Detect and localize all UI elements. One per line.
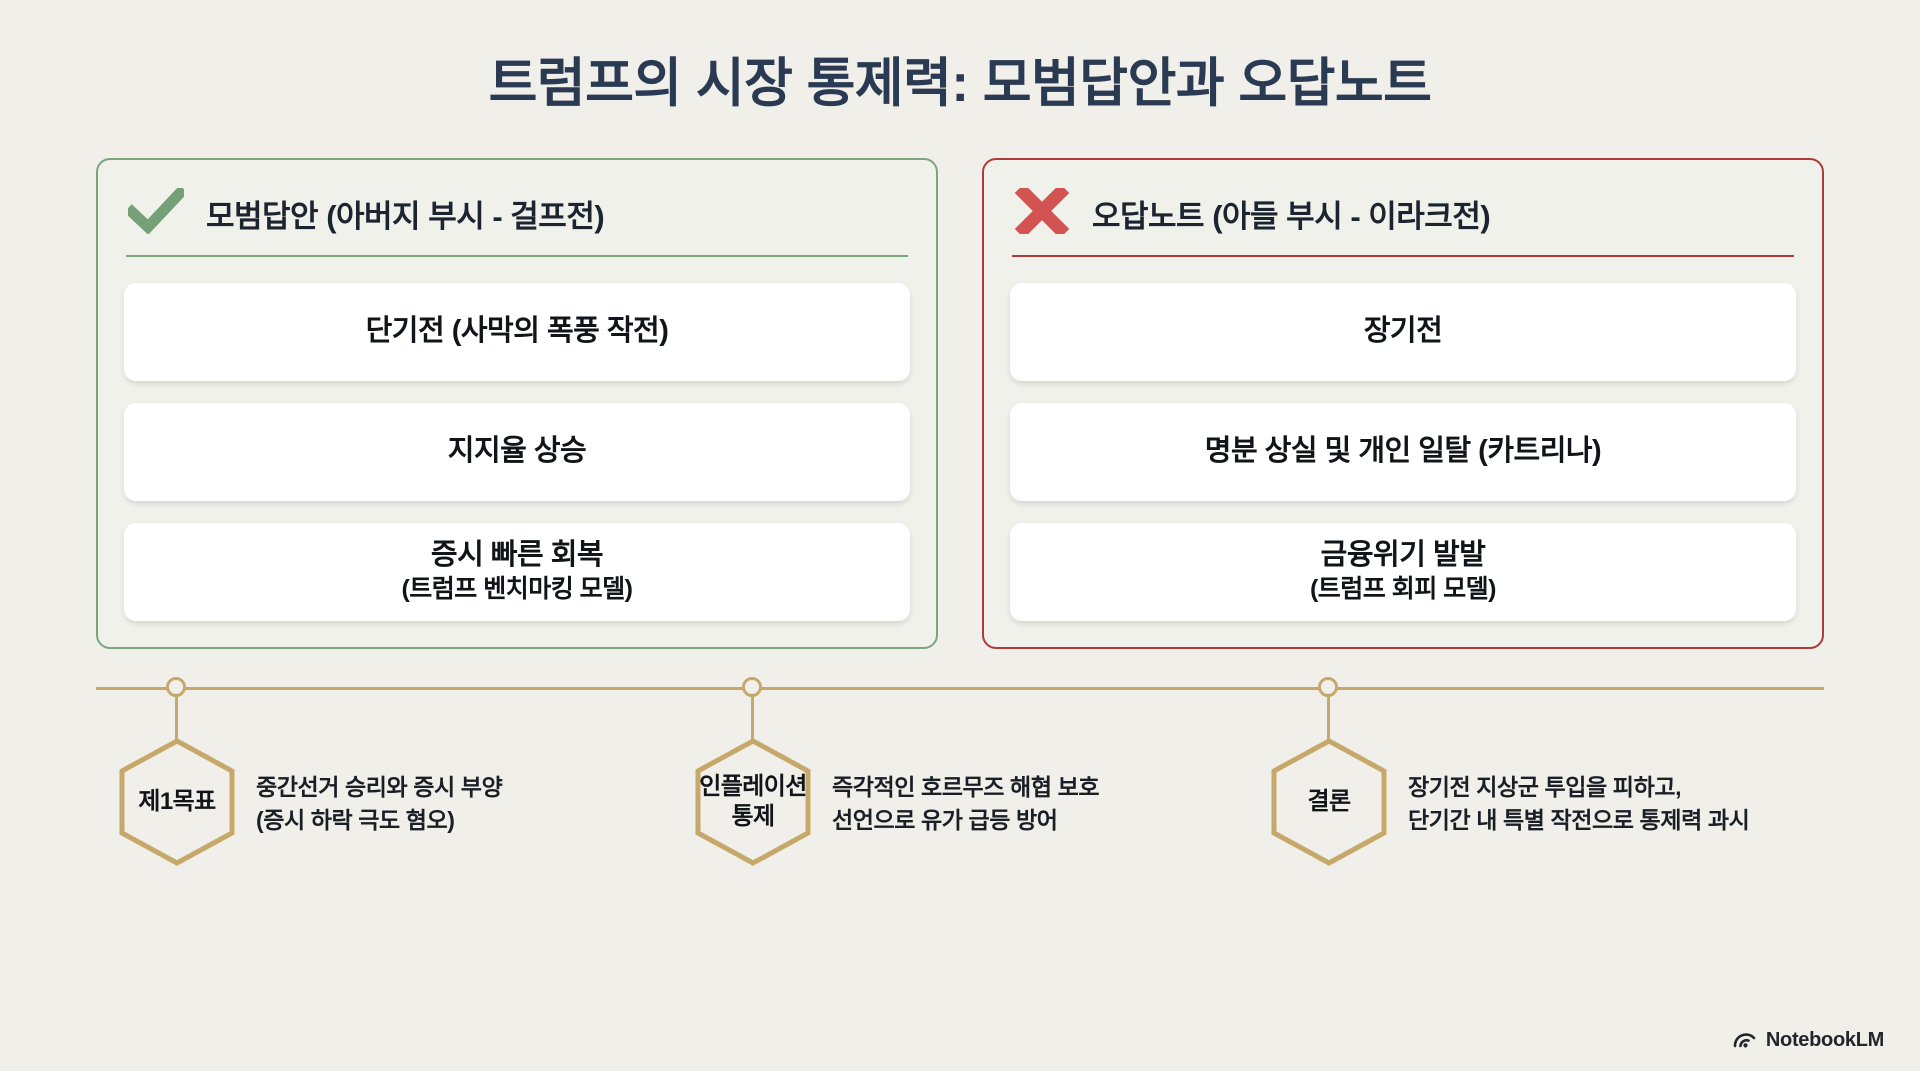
timeline-text-line2: 선언으로 유가 급등 방어	[832, 804, 1099, 837]
card-item: 단기전 (사막의 폭풍 작전)	[124, 283, 910, 381]
hexagon-label-line2: 통제	[699, 802, 806, 831]
card-item: 명분 상실 및 개인 일탈 (카트리나)	[1010, 403, 1796, 501]
card-line-primary: 명분 상실 및 개인 일탈 (카트리나)	[1205, 433, 1601, 469]
timeline-text-line2: (증시 하락 극도 혐오)	[256, 804, 502, 837]
timeline: 제1목표 중간선거 승리와 증시 부양 (증시 하락 극도 혐오) 인플레이션 …	[96, 687, 1824, 897]
timeline-text-line1: 즉각적인 호르무즈 해협 보호	[832, 771, 1099, 804]
cross-icon	[1014, 188, 1070, 239]
card-item: 장기전	[1010, 283, 1796, 381]
card-line-primary: 장기전	[1364, 313, 1443, 349]
hexagon-badge: 제1목표	[118, 737, 236, 867]
card-line-secondary: (트럼프 벤치마킹 모델)	[401, 573, 632, 606]
hexagon-label-line1: 결론	[1308, 787, 1351, 816]
page-title: 트럼프의 시장 통제력: 모범답안과 오답노트	[0, 0, 1920, 116]
hexagon-badge: 결론	[1270, 737, 1388, 867]
timeline-stem	[175, 697, 178, 739]
timeline-text: 중간선거 승리와 증시 부양 (증시 하락 극도 혐오)	[256, 771, 502, 838]
timeline-text-line2: 단기간 내 특별 작전으로 통제력 과시	[1408, 804, 1749, 837]
timeline-item: 인플레이션 통제 즉각적인 호르무즈 해협 보호 선언으로 유가 급등 방어	[672, 687, 1248, 867]
hexagon-label-line1: 인플레이션	[699, 772, 806, 801]
timeline-items: 제1목표 중간선거 승리와 증시 부양 (증시 하락 극도 혐오) 인플레이션 …	[96, 687, 1824, 867]
timeline-text: 즉각적인 호르무즈 해협 보호 선언으로 유가 급등 방어	[832, 771, 1099, 838]
hexagon-badge: 인플레이션 통제	[694, 737, 812, 867]
card-item: 증시 빠른 회복 (트럼프 벤치마킹 모델)	[124, 523, 910, 621]
card-line-primary: 지지율 상승	[448, 433, 586, 469]
notebooklm-logo-icon	[1733, 1028, 1757, 1053]
timeline-text-line1: 중간선거 승리와 증시 부양	[256, 771, 502, 804]
panel-good-title: 모범답안 (아버지 부시 - 걸프전)	[206, 191, 604, 236]
card-line-primary: 금융위기 발발	[1321, 537, 1486, 573]
footer-brand: NotebookLM	[1733, 1028, 1884, 1053]
timeline-stem	[751, 697, 754, 739]
hexagon-label: 결론	[1308, 787, 1351, 816]
panel-good-header: 모범답안 (아버지 부시 - 걸프전)	[124, 182, 910, 255]
card-line-primary: 증시 빠른 회복	[431, 537, 603, 573]
panel-wrong-header: 오답노트 (아들 부시 - 이라크전)	[1010, 182, 1796, 255]
comparison-panels: 모범답안 (아버지 부시 - 걸프전) 단기전 (사막의 폭풍 작전) 지지율 …	[0, 116, 1920, 649]
timeline-text: 장기전 지상군 투입을 피하고, 단기간 내 특별 작전으로 통제력 과시	[1408, 771, 1749, 838]
hexagon-label: 제1목표	[138, 787, 215, 816]
timeline-stem	[1327, 697, 1330, 739]
timeline-item: 제1목표 중간선거 승리와 증시 부양 (증시 하락 극도 혐오)	[96, 687, 672, 867]
hexagon-label-line1: 제1목표	[138, 787, 215, 816]
timeline-node-icon	[742, 677, 762, 697]
hexagon-label: 인플레이션 통제	[699, 772, 806, 831]
card-item: 금융위기 발발 (트럼프 회피 모델)	[1010, 523, 1796, 621]
panel-wrong-divider	[1012, 255, 1794, 257]
check-icon	[128, 188, 184, 239]
timeline-item: 결론 장기전 지상군 투입을 피하고, 단기간 내 특별 작전으로 통제력 과시	[1248, 687, 1824, 867]
timeline-node-icon	[1318, 677, 1338, 697]
card-line-secondary: (트럼프 회피 모델)	[1310, 573, 1496, 606]
panel-good-answer: 모범답안 (아버지 부시 - 걸프전) 단기전 (사막의 폭풍 작전) 지지율 …	[96, 158, 938, 649]
timeline-text-line1: 장기전 지상군 투입을 피하고,	[1408, 771, 1749, 804]
panel-good-divider	[126, 255, 908, 257]
card-line-primary: 단기전 (사막의 폭풍 작전)	[366, 313, 669, 349]
timeline-node-icon	[166, 677, 186, 697]
panel-wrong-title: 오답노트 (아들 부시 - 이라크전)	[1092, 191, 1490, 236]
card-item: 지지율 상승	[124, 403, 910, 501]
notebooklm-label: NotebookLM	[1766, 1029, 1884, 1052]
panel-wrong-answer: 오답노트 (아들 부시 - 이라크전) 장기전 명분 상실 및 개인 일탈 (카…	[982, 158, 1824, 649]
